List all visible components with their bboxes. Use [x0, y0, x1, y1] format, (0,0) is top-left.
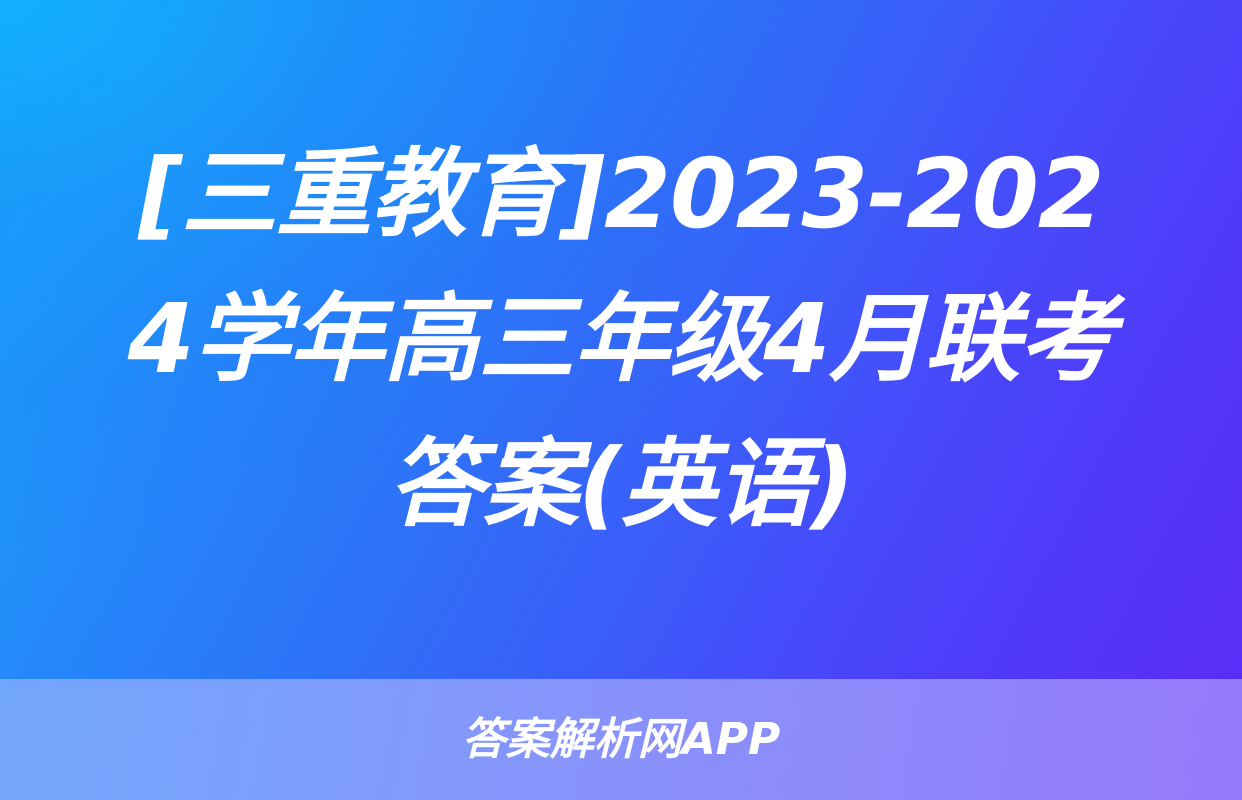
cover-card: [三重教育]2023-2024学年高三年级4月联考答案(英语) 答案解析网APP [0, 0, 1242, 800]
brand-band: 答案解析网APP [0, 679, 1242, 800]
app-brand-label: 答案解析网APP [462, 716, 781, 764]
page-title: [三重教育]2023-2024学年高三年级4月联考答案(英语) [106, 122, 1136, 557]
title-container: [三重教育]2023-2024学年高三年级4月联考答案(英语) [0, 0, 1242, 679]
